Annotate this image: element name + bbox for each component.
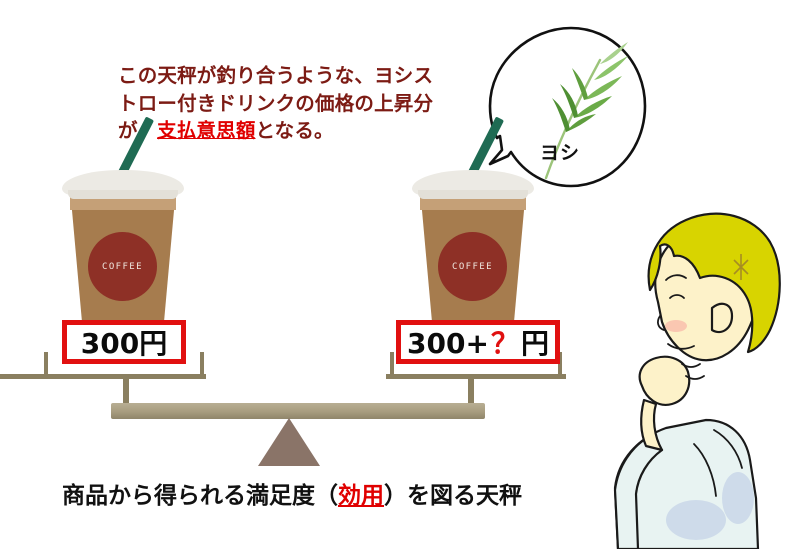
caption-text: 商品から得られる満足度（効用）を図る天秤 [62, 476, 522, 510]
scale-pan-right-surface [386, 374, 566, 379]
illustration-canvas: この天秤が釣り合うような、ヨシス トロー付きドリンクの価格の上昇分 が、支払意思… [0, 0, 789, 549]
price-label-right: 300+？円 [396, 320, 560, 364]
boy-ear [712, 304, 732, 332]
scale-beam [111, 403, 485, 419]
scale-pan-left-surface [0, 374, 206, 379]
scale-fulcrum [258, 418, 320, 466]
boy-blush [665, 320, 687, 332]
price-right-prefix: 300+ [407, 327, 489, 360]
price-right-suffix: 円 [521, 327, 549, 360]
caption-prefix: 商品から得られる満足度（ [62, 483, 338, 509]
scale-post-right [468, 378, 474, 406]
caption-highlight-term: 効用 [338, 483, 384, 509]
scale-post-left [123, 378, 129, 406]
price-label-left: 300円 [62, 320, 186, 364]
price-right-text: 300+？円 [407, 322, 549, 362]
price-left-text: 300円 [81, 322, 167, 362]
caption-suffix: ）を図る天秤 [384, 483, 522, 509]
thinking-boy-illustration [588, 198, 789, 549]
boy-forearm [641, 400, 662, 450]
price-right-question: ？ [489, 327, 521, 360]
